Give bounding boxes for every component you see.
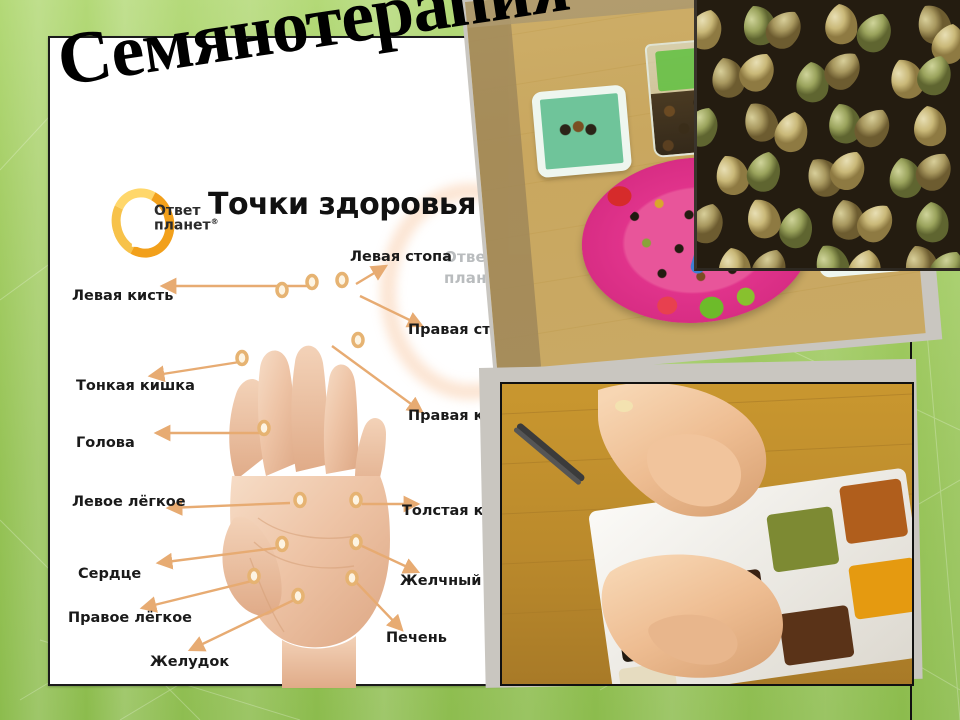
health-points-card: Ответ планет® Ответ планет® Точки здоров… [48,36,515,686]
label-pechen: Печень [386,630,447,646]
presentation-slide: Ответ планет® Ответ планет® Точки здоров… [0,0,960,720]
label-levaya-stopa: Левая стопа [350,249,452,265]
flower-decor [736,287,756,307]
flower-decor [607,185,633,207]
label-golova: Голова [76,435,135,451]
buckwheat-seeds-photo [694,0,960,271]
ring-icon [615,400,633,412]
flower-decor [656,296,677,316]
hand-illustration [222,346,390,688]
tray-cell-red-beans [839,478,908,544]
green-bowl-left [531,84,632,178]
tray-cell-flax-seeds [778,605,855,666]
hands-tray-scene [502,384,912,684]
label-serdce: Сердце [78,566,141,582]
label-levoe-legkoe: Левое лёгкое [72,494,186,510]
label-zheludok: Желудок [150,654,229,670]
hands-sorting-tray-photo [500,382,914,686]
brand-line1: Ответ [154,203,200,219]
flower-decor [699,296,725,320]
card-subtitle: Точки здоровья [208,187,476,222]
label-levaya-kist: Левая кисть [72,288,173,304]
bowl-seeds [556,117,602,141]
seeds-texture [697,0,960,268]
tray-cell-yellow-lentils [848,557,912,620]
tray-cell-green-lentils [766,506,839,573]
label-pravoe-legkoe: Правое лёгкое [68,610,192,626]
label-tonkaya-kishka: Тонкая кишка [76,378,195,394]
